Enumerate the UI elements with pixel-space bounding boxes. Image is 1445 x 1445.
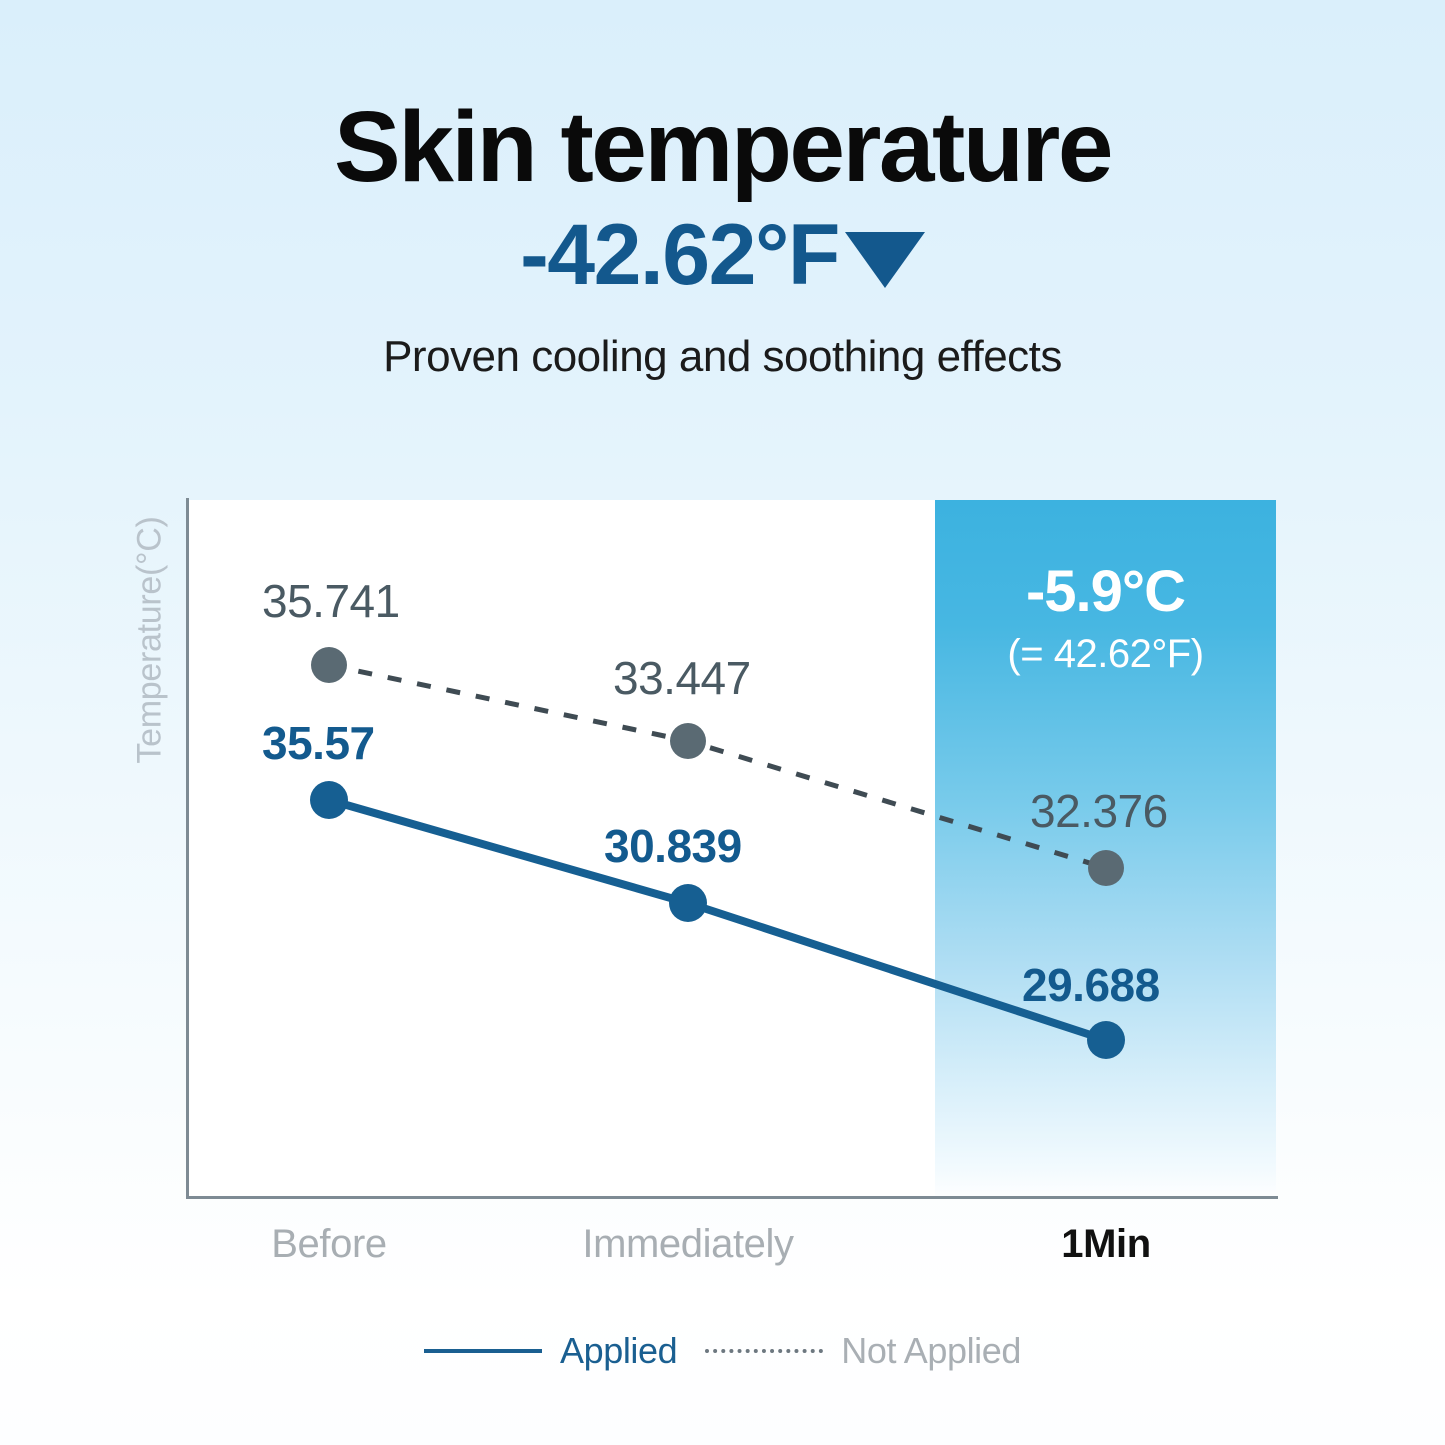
x-tick-immediately: Immediately [538, 1222, 838, 1267]
label-applied-immediately: 30.839 [604, 823, 742, 869]
x-tick-before: Before [179, 1222, 479, 1267]
label-applied-before: 35.57 [262, 720, 375, 766]
label-not-applied-1min: 32.376 [1030, 788, 1168, 834]
panel-main-value: -5.9°C [935, 558, 1276, 625]
x-axis-line [186, 1196, 1278, 1199]
legend-label-applied: Applied [560, 1330, 677, 1372]
legend-item-applied[interactable]: Applied [424, 1330, 677, 1372]
legend-label-not-applied: Not Applied [841, 1330, 1021, 1372]
y-axis-title: Temperature(°C) [131, 516, 170, 763]
solid-line-icon [424, 1349, 542, 1353]
legend-item-not-applied[interactable]: Not Applied [705, 1330, 1021, 1372]
chart-legend: Applied Not Applied [0, 1330, 1445, 1372]
y-axis-line [186, 498, 189, 1198]
dotted-line-icon [705, 1349, 823, 1353]
label-applied-1min: 29.688 [1022, 962, 1160, 1008]
panel-sub-value: (= 42.62°F) [935, 632, 1276, 677]
label-not-applied-before: 35.741 [262, 578, 400, 624]
label-not-applied-immediately: 33.447 [613, 655, 751, 701]
x-tick-1min: 1Min [956, 1222, 1256, 1267]
chart: Temperature(°C) -5.9°C (= 42.62°F) 35.74… [0, 0, 1445, 1445]
